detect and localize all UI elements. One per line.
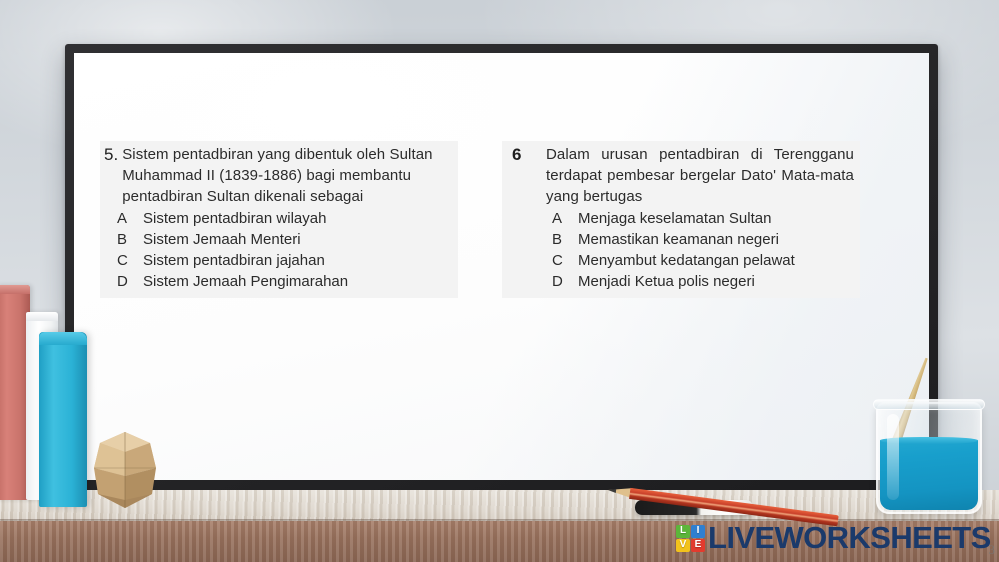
option-6-b-letter: B (552, 229, 578, 250)
option-6-c-letter: C (552, 250, 578, 271)
option-6-c-text: Menyambut kedatangan pelawat (578, 250, 854, 271)
option-5-b-letter: B (117, 229, 143, 250)
teal-book (39, 332, 87, 507)
option-6-d-text: Menjadi Ketua polis negeri (578, 271, 854, 292)
question-6-number: 6 (506, 144, 546, 165)
whiteboard: 5. Sistem pentadbiran yang dibentuk oleh… (65, 44, 938, 490)
option-5-d[interactable]: D Sistem Jemaah Pengimarahan (117, 271, 452, 292)
logo-tile-i-icon: I (691, 525, 705, 538)
whiteboard-surface: 5. Sistem pentadbiran yang dibentuk oleh… (74, 53, 929, 480)
question-card-6: 6 Dalam urusan pentadbiran di Terengganu… (502, 141, 860, 298)
question-6-head: 6 Dalam urusan pentadbiran di Terengganu… (506, 144, 854, 207)
option-5-c-text: Sistem pentadbiran jajahan (143, 250, 452, 271)
option-5-b-text: Sistem Jemaah Menteri (143, 229, 452, 250)
option-5-c-letter: C (117, 250, 143, 271)
pencil-lead (608, 488, 616, 493)
option-5-d-text: Sistem Jemaah Pengimarahan (143, 271, 452, 292)
question-6-options: A Menjaga keselamatan Sultan B Memastika… (506, 208, 854, 292)
option-5-a-letter: A (117, 208, 143, 229)
option-6-a-text: Menjaga keselamatan Sultan (578, 208, 854, 229)
option-6-b[interactable]: B Memastikan keamanan negeri (552, 229, 854, 250)
wooden-polyhedron (84, 430, 166, 510)
logo-tile-l-icon: L (676, 525, 690, 538)
logo-wordmark: LIVEWORKSHEETS (708, 522, 991, 554)
question-6-stem: Dalam urusan pentadbiran di Terengganu t… (546, 144, 854, 207)
question-5-stem: Sistem pentadbiran yang dibentuk oleh Su… (122, 144, 452, 207)
option-5-a-text: Sistem pentadbiran wilayah (143, 208, 452, 229)
jar-rim (873, 399, 985, 410)
page-number: 3 (989, 542, 996, 558)
option-5-a[interactable]: A Sistem pentadbiran wilayah (117, 208, 452, 229)
option-6-a[interactable]: A Menjaga keselamatan Sultan (552, 208, 854, 229)
option-5-b[interactable]: B Sistem Jemaah Menteri (117, 229, 452, 250)
question-5-number: 5. (104, 144, 122, 165)
option-6-a-letter: A (552, 208, 578, 229)
classroom-scene: 5. Sistem pentadbiran yang dibentuk oleh… (0, 0, 999, 562)
logo-tiles: L I V E (676, 525, 705, 552)
question-card-5: 5. Sistem pentadbiran yang dibentuk oleh… (100, 141, 458, 298)
jar-highlight (887, 414, 899, 500)
question-5-options: A Sistem pentadbiran wilayah B Sistem Je… (104, 208, 452, 292)
question-5-head: 5. Sistem pentadbiran yang dibentuk oleh… (104, 144, 452, 207)
option-5-c[interactable]: C Sistem pentadbiran jajahan (117, 250, 452, 271)
logo-tile-e-icon: E (691, 539, 705, 552)
glass-jar (876, 402, 982, 514)
option-6-b-text: Memastikan keamanan negeri (578, 229, 854, 250)
jar-glass-body (876, 402, 982, 514)
liveworksheets-logo[interactable]: L I V E LIVEWORKSHEETS (676, 521, 991, 555)
option-6-d[interactable]: D Menjadi Ketua polis negeri (552, 271, 854, 292)
logo-tile-v-icon: V (676, 539, 690, 552)
option-5-d-letter: D (117, 271, 143, 292)
option-6-c[interactable]: C Menyambut kedatangan pelawat (552, 250, 854, 271)
option-6-d-letter: D (552, 271, 578, 292)
